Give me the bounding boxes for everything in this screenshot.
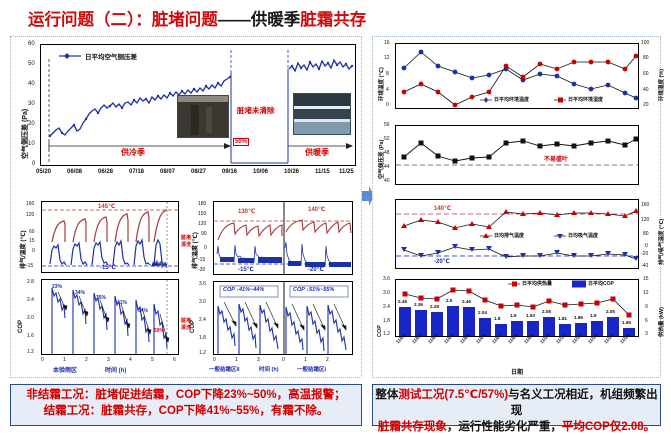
pressure-drop-ylabel: 空气侧压差 (Pa) — [20, 109, 30, 159]
zone2-temp-ylabel: 排气温度 (℃) — [190, 232, 199, 269]
annotation-cop-50: 50% — [154, 328, 164, 334]
pressure-drop-chart: 空气侧压差 (Pa) 60 50 40 30 20 10 0 — [11, 39, 363, 197]
cop-heat-chart: COP 3.6 3.0 2.4 1.8 1.2 供热量 (kW) 15 12 9… — [373, 275, 662, 377]
bar-value-1: 2.36 — [414, 302, 423, 307]
right-concl-l2c: 平均COP仅2.08。 — [562, 421, 655, 433]
xtick-9: 11/15 — [315, 169, 330, 175]
bar-value-11: 1.86 — [574, 315, 583, 320]
annotation-130c: 130℃ — [238, 208, 255, 215]
zone2-xsublabel-left: 一般结霜区II — [209, 365, 240, 373]
left-concl-l2c: ，有霜不除。 — [259, 405, 328, 417]
left-concl-l2b: 41%~55% — [207, 405, 260, 417]
discharge-legend-exhaust: 日均排气温度 — [494, 232, 524, 239]
zone1-cop-ylabel: COP — [18, 320, 24, 333]
title-segment-4: 脏霜共存 — [300, 11, 366, 29]
xtick-7: 10/06 — [253, 169, 268, 175]
pressure-drop-plot: 脏堵未清除 50% 供冷季 供暖季 日平均空气侧压差 — [40, 44, 356, 166]
title-segment-3: ——供暖季 — [218, 11, 301, 29]
annotation-145c: 145℃ — [98, 203, 115, 210]
left-panel: 空气侧压差 (Pa) 60 50 40 30 20 10 0 — [10, 36, 362, 378]
annotation-fouling-not-removed: 脏堵未清除 — [237, 105, 275, 116]
slide-root: 运行问题（二）：脏堵问题——供暖季脏霜共存 空气侧压差 (Pa) 60 50 4… — [0, 0, 671, 434]
annotation-cop-51-55: COP ↓51%~55% — [293, 287, 334, 293]
ambient-legend-temp: 日平均环境温度 — [494, 96, 529, 103]
xtick-4: 08/07 — [160, 169, 175, 175]
annotation-cooling-season: 供冷季 — [121, 147, 145, 158]
left-conclusion-line1: 非结霜工况：脏堵促进结霜，COP下降23%~50%，高温报警； — [11, 387, 361, 403]
zone2-cop-ylabel: COP — [190, 320, 196, 333]
copheat-legend-heat: 日平均供热量 — [522, 280, 552, 287]
discharge-plot: 140℃ -20℃ 日均排气温度 日均吸气温度 — [395, 199, 639, 269]
xtick-0: 05/20 — [36, 169, 51, 175]
zone2-xlabel: 时间 (h) — [259, 365, 279, 373]
copheat-xaxis: 11/01 11/02 11/03 11/04 11/05 11/06 11/0… — [395, 339, 639, 365]
zone2-charts: 排气温度 (℃) 180 150 120 90 0 -15 -30 — [187, 193, 361, 377]
bar-value-7: 1.9 — [510, 313, 516, 318]
annotation-minus15c: -15℃ — [100, 264, 116, 271]
discharge-legend-suction: 日均吸气温度 — [568, 232, 598, 239]
copheat-ylabel-right: 供热量 (kW) — [657, 307, 665, 337]
bar-value-3: 2.5 — [446, 298, 452, 303]
bar-value-4: 2.46 — [462, 299, 471, 304]
annotation-cop-34b: 34% — [138, 308, 148, 314]
xtick-10: 11/25 — [339, 169, 354, 175]
right-concl-l2b: ，运行性能劣化严重， — [447, 421, 562, 433]
annotation-heating-season: 供暖季 — [305, 147, 329, 158]
page-title: 运行问题（二）：脏堵问题——供暖季脏霜共存 — [28, 6, 366, 30]
bar-value-8: 1.93 — [526, 313, 535, 318]
bar-value-12: 1.9 — [590, 313, 596, 318]
right-conclusion-line1: 整体测试工况(7.5℃/57%)与名义工况相近，机组频繁出现 — [373, 387, 660, 419]
zone1-temp-plot: 145℃ -15℃ — [41, 201, 179, 273]
bar-value-2: 2.28 — [430, 304, 439, 309]
right-concl-l2a: 脏霜共存现象 — [378, 421, 447, 433]
zone2-cop-plot: COP ↓41%~44% COP ↓51%~55% — [213, 281, 353, 355]
ambient-plot: 日平均环境温度 日平均环境湿度 — [395, 43, 639, 109]
xtick-6: 09/16 — [222, 169, 237, 175]
xtick-3: 07/18 — [129, 169, 144, 175]
bar-value-10: 1.81 — [558, 316, 567, 321]
annotation-cop-41: 41% — [117, 300, 127, 306]
annotation-50pct: 50% — [233, 138, 249, 146]
annotation-140c-zone2: 140℃ — [308, 206, 325, 213]
right-concl-l1c: 与名义工况相近，机组频繁出现 — [508, 389, 658, 417]
annotation-140c-right: 140℃ — [434, 205, 451, 212]
air-pressure-chart: 空气侧压差 (Pa) 56 52 48 44 40 — [373, 121, 662, 193]
annotation-no-fouling: 不易盛叶 — [544, 154, 568, 163]
ambient-legend-humidity: 日平均环境湿度 — [568, 96, 603, 103]
copheat-legend-cop: 日平均COP — [588, 280, 614, 287]
xtick-5: 08/27 — [191, 169, 206, 175]
zone1-xlabel: 时间 (h) — [105, 365, 126, 374]
zone1-cop-plot: 23% 34% 35% 41% 34% 50% — [41, 279, 179, 355]
bar-value-5: 2.04 — [478, 310, 487, 315]
annotation-cop-41-44: COP ↓41%~44% — [223, 287, 264, 293]
zone1-xsublabel: 本验雨区 — [53, 365, 77, 374]
left-concl-l1b: 23%~50% — [224, 389, 277, 401]
right-concl-l1b: 测试工况(7.5℃/57%) — [398, 389, 508, 401]
ambient-ylabel: 环境温度 (℃) — [377, 67, 385, 101]
bar-value-13: 2.05 — [606, 309, 615, 314]
left-conclusion-line2: 结霜工况：脏霜共存，COP下降41%~55%，有霜不除。 — [11, 403, 361, 419]
pressure-drop-legend-label: 日平均空气侧压差 — [85, 51, 137, 61]
airpressure-plot: 不易盛叶 — [395, 125, 639, 185]
bar-value-14: 1.65 — [622, 320, 631, 325]
right-conclusion-line2: 脏霜共存现象，运行性能劣化严重，平均COP仅2.08。 — [373, 419, 660, 435]
xtick-2: 06/28 — [98, 169, 113, 175]
discharge-suction-temp-chart: 排气/吸气温度 (℃) 160 120 80 0 -20 -40 — [373, 195, 662, 275]
title-segment-1: 运行问题（二）： — [28, 11, 152, 29]
airpressure-ylabel: 空气侧压差 (Pa) — [377, 140, 385, 179]
left-concl-l1a: 非结霜工况：脏堵促进结霜，COP下降 — [26, 389, 223, 401]
zone2-xsublabel-right: 一般结霜区I — [297, 365, 326, 373]
zone1-charts: 排气/温度 (℃) 160 120 60 15 0 -15 — [13, 193, 185, 377]
right-conclusion-box: 整体测试工况(7.5℃/57%)与名义工况相近，机组频繁出现 脏霜共存现象，运行… — [372, 384, 661, 426]
left-conclusion-box: 非结霜工况：脏堵促进结霜，COP下降23%~50%，高温报警； 结霜工况：脏霜共… — [10, 384, 362, 426]
bar-value-9: 2.08 — [542, 309, 551, 314]
title-segment-2: 脏堵问题 — [152, 11, 218, 29]
right-panel: 环境温度 (℃) 16 12 8 4 0 环境湿度 (%) 100 80 60 … — [372, 36, 661, 378]
ambient-temp-humidity-chart: 环境温度 (℃) 16 12 8 4 0 环境湿度 (%) 100 80 60 … — [373, 39, 662, 119]
copheat-xlabel: 日期 — [511, 367, 523, 376]
xtick-8: 10/26 — [284, 169, 299, 175]
xtick-1: 06/08 — [67, 169, 82, 175]
annotation-minus20c-right: -20℃ — [434, 258, 450, 265]
annotation-cop-23: 23% — [52, 284, 62, 290]
copheat-plot: 2.48 2.36 2.28 2.5 2.46 2.04 1.8 1.9 1.9… — [395, 279, 639, 337]
annotation-cop-34a: 34% — [75, 290, 85, 296]
bar-value-0: 2.48 — [398, 299, 407, 304]
left-concl-l2a: 结霜工况：脏霜共存，COP下降 — [44, 405, 207, 417]
bar-value-6: 1.8 — [494, 316, 500, 321]
zone2-temp-plot: 130℃ 140℃ -15℃ -20℃ — [213, 201, 353, 275]
right-concl-l1a: 整体 — [375, 389, 398, 401]
discharge-ylabel-right: 排气/吸气温度 (℃) — [657, 219, 665, 265]
left-concl-l1c: ，高温报警； — [277, 389, 346, 401]
annotation-cop-35: 35% — [96, 295, 106, 301]
ambient-ylabel-right: 环境湿度 (%) — [657, 69, 665, 101]
annotation-minus20c-zone2: -20℃ — [308, 266, 324, 273]
annotation-minus15c-zone2: -15℃ — [238, 266, 254, 273]
